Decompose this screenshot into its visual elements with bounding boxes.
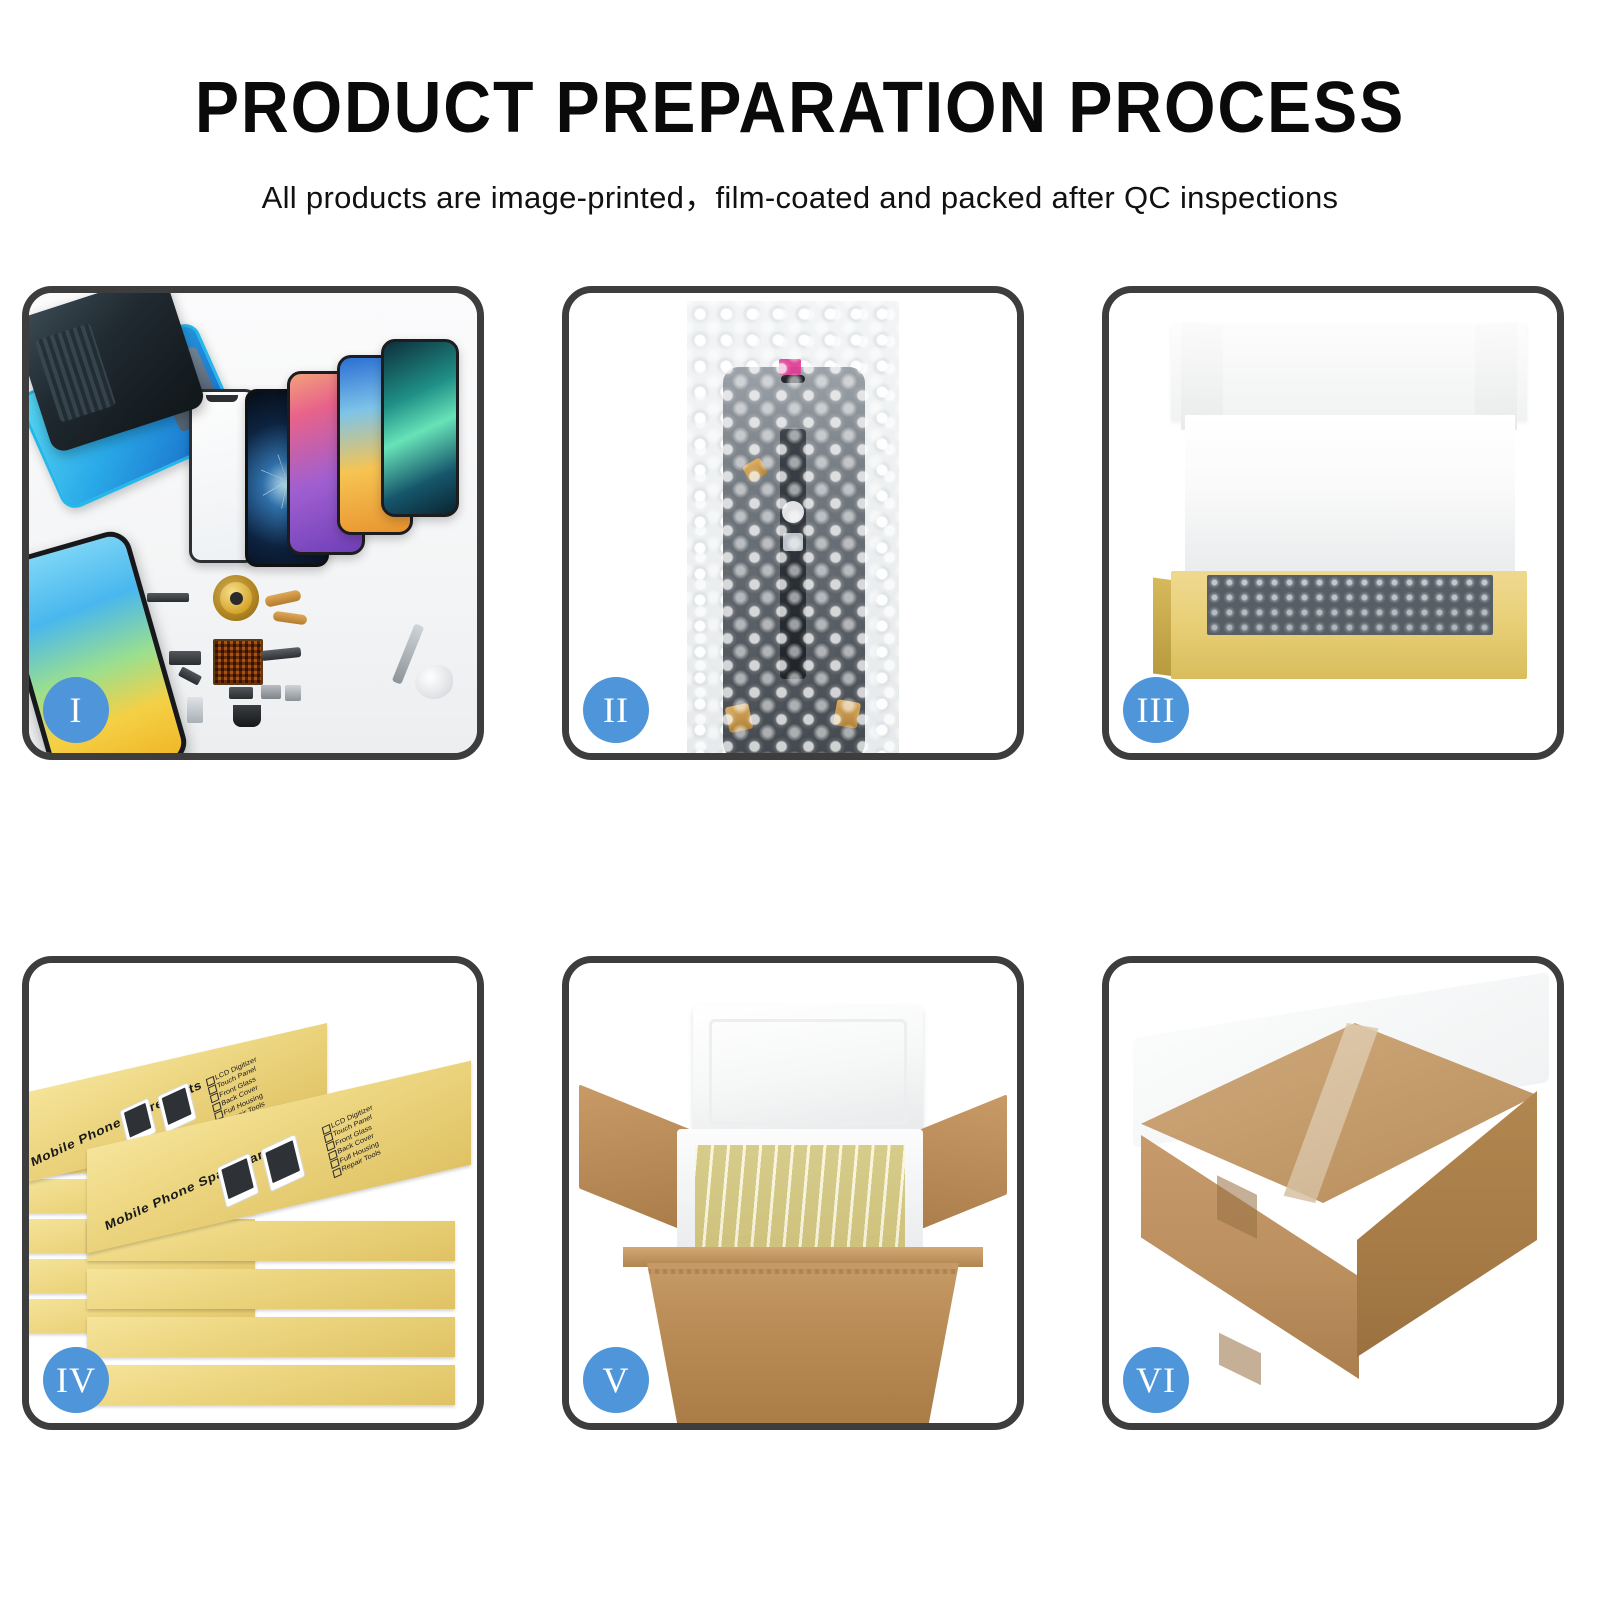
step-badge-6: VI bbox=[1123, 1347, 1189, 1413]
small-part-icon bbox=[169, 651, 201, 665]
flex-cable-icon bbox=[261, 647, 302, 661]
wireless-charging-coil-icon bbox=[213, 575, 259, 621]
white-box-lid bbox=[1171, 323, 1527, 421]
small-part-icon bbox=[178, 666, 202, 685]
pink-qc-sticker-icon bbox=[779, 359, 801, 375]
small-part-icon bbox=[261, 685, 281, 699]
taptic-engine-icon bbox=[233, 705, 261, 727]
process-step-1: I bbox=[22, 286, 484, 760]
process-step-2: II bbox=[562, 286, 1024, 760]
retail-box bbox=[87, 1269, 455, 1309]
page-title: PRODUCT PREPARATION PROCESS bbox=[64, 72, 1536, 144]
teal-phone-screen-icon bbox=[381, 339, 459, 517]
earpiece-slot-icon bbox=[781, 375, 805, 383]
gold-box-tray bbox=[1171, 571, 1527, 679]
retail-box bbox=[87, 1365, 455, 1405]
carton-flap-left bbox=[579, 1084, 691, 1233]
driver-ic-icon bbox=[783, 533, 803, 551]
sim-tray-icon bbox=[187, 697, 203, 723]
packed-gold-boxes bbox=[695, 1145, 905, 1253]
carton-body bbox=[647, 1263, 959, 1423]
bubble-wrap-sleeve bbox=[687, 301, 899, 753]
process-step-3: III bbox=[1102, 286, 1564, 760]
styrofoam-lid bbox=[693, 1005, 923, 1141]
process-step-4: Mobile Phone Spare Parts LCD Digitizer T… bbox=[22, 956, 484, 1430]
step-badge-2: II bbox=[583, 677, 649, 743]
flex-cable-icon bbox=[272, 611, 307, 626]
process-step-5: V bbox=[562, 956, 1024, 1430]
bubble-wrapped-contents bbox=[1207, 575, 1493, 635]
camera-module-icon bbox=[782, 501, 804, 523]
process-step-grid: I II bbox=[22, 286, 1578, 1430]
step-badge-5: V bbox=[583, 1347, 649, 1413]
cleaning-swab-icon bbox=[415, 665, 453, 699]
retail-box bbox=[87, 1317, 455, 1357]
earpiece-speaker-icon bbox=[147, 593, 189, 602]
small-part-icon bbox=[229, 687, 253, 699]
gold-connector-icon bbox=[833, 699, 861, 729]
page-header: PRODUCT PREPARATION PROCESS All products… bbox=[0, 0, 1600, 217]
carton-seam-tab bbox=[1219, 1333, 1261, 1385]
small-part-icon bbox=[285, 685, 301, 701]
retail-box-checklist: LCD Digitizer Touch Panel Front Glass Ba… bbox=[321, 1103, 384, 1178]
display-flex-cable-icon bbox=[780, 429, 806, 679]
chip-array-icon bbox=[213, 639, 263, 685]
page-subtitle: All products are image-printed，film-coat… bbox=[0, 172, 1600, 217]
step-badge-4: IV bbox=[43, 1347, 109, 1413]
step-badge-1: I bbox=[43, 677, 109, 743]
styrofoam-cooler-body bbox=[677, 1129, 923, 1261]
foam-sheet bbox=[1185, 415, 1515, 575]
process-step-6: VI bbox=[1102, 956, 1564, 1430]
flex-cable-icon bbox=[264, 589, 302, 607]
gold-connector-icon bbox=[725, 703, 754, 733]
step-badge-3: III bbox=[1123, 677, 1189, 743]
